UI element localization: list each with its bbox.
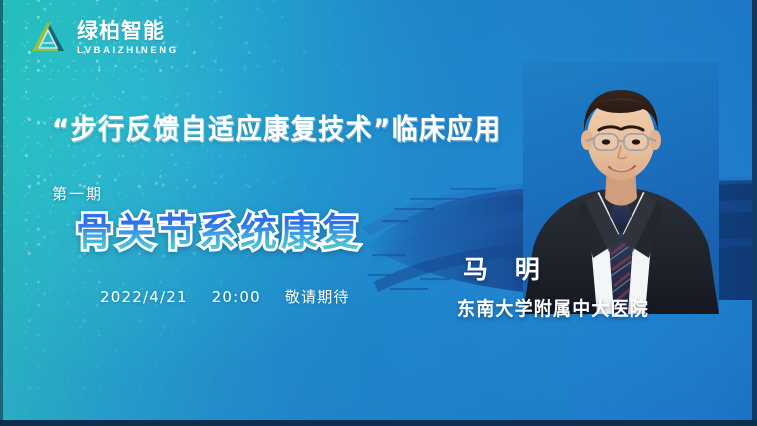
logo-company-cn: 绿柏智能	[77, 21, 179, 42]
episode-title: 骨关节系统康复 骨关节系统康复	[76, 212, 363, 254]
schedule-line: 2022/4/21 20:00 敬请期待	[100, 286, 350, 307]
episode-title-fill: 骨关节系统康复	[76, 210, 363, 255]
schedule-time: 20:00	[212, 288, 261, 306]
edge-left	[0, 0, 3, 426]
schedule-date: 2022/4/21	[100, 288, 188, 306]
webinar-poster: 绿柏智能 LVBAIZHINENG “步行反馈自适应康复技术”临床应用 第一期 …	[0, 0, 757, 426]
speaker-organization: 东南大学附属中大医院	[457, 294, 703, 321]
edge-bottom	[0, 420, 757, 426]
speaker-name: 马 明	[463, 250, 703, 286]
schedule-note: 敬请期待	[285, 288, 350, 306]
headline-title: “步行反馈自适应康复技术”临床应用	[52, 108, 502, 147]
lvbai-triangle-logo-icon	[28, 17, 68, 57]
edge-right	[752, 0, 757, 426]
episode-label: 第一期	[52, 183, 103, 204]
logo-company-en: LVBAIZHINENG	[77, 46, 179, 56]
speaker-block: 马 明 东南大学附属中大医院	[463, 250, 703, 320]
brand-logo: 绿柏智能 LVBAIZHINENG	[28, 17, 179, 57]
